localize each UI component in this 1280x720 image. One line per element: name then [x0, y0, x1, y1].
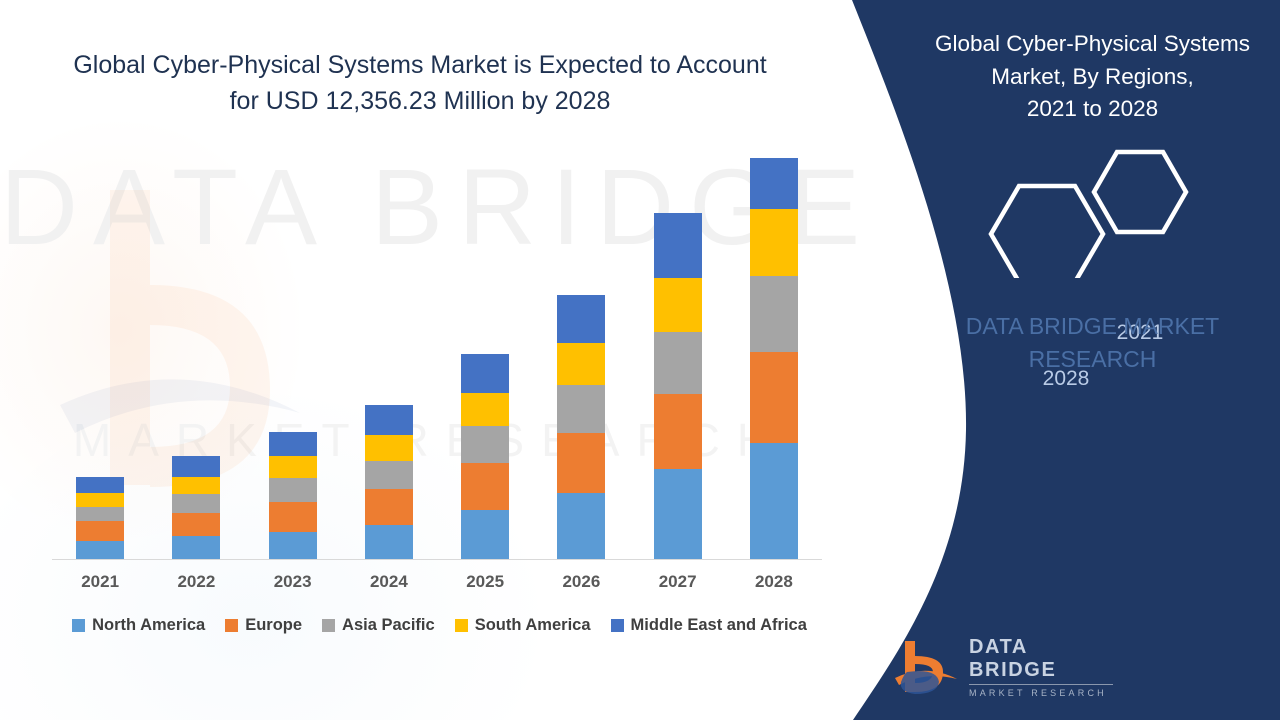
stacked-bar-2024 [365, 405, 413, 560]
logo-text-block: DATA BRIDGE MARKET RESEARCH [969, 636, 1113, 698]
stacked-bar-2023 [269, 432, 317, 560]
panel-title-line-2: Market, By Regions, [905, 61, 1280, 94]
bar-segment [461, 354, 509, 393]
stacked-bar-2027 [654, 213, 702, 560]
bar-segment [557, 343, 605, 385]
stacked-bar-2025 [461, 354, 509, 560]
x-axis-line [52, 559, 822, 560]
bar-segment [557, 385, 605, 432]
bar-segment [76, 477, 124, 493]
hexagon-outlines-icon [965, 148, 1225, 278]
bar-segment [269, 432, 317, 457]
x-tick-label: 2021 [61, 572, 139, 592]
stacked-bar-2026 [557, 295, 605, 560]
bar-segment [461, 393, 509, 426]
x-tick-label: 2025 [446, 572, 524, 592]
legend-item: Middle East and Africa [611, 616, 807, 635]
panel-title-line-1: Global Cyber-Physical Systems [905, 28, 1280, 61]
bar-segment [750, 158, 798, 210]
bar-column [61, 150, 139, 560]
x-tick-label: 2028 [735, 572, 813, 592]
legend-label: North America [92, 616, 205, 635]
chart-legend: North AmericaEuropeAsia PacificSouth Ame… [52, 616, 827, 635]
bar-segment [76, 493, 124, 507]
legend-label: South America [475, 616, 591, 635]
legend-item: North America [72, 616, 205, 635]
bar-segment [76, 521, 124, 540]
logo-sub-text: MARKET RESEARCH [969, 688, 1113, 698]
bar-segment [269, 456, 317, 478]
bar-segment [365, 525, 413, 560]
x-tick-label: 2027 [639, 572, 717, 592]
bar-segment [172, 494, 220, 512]
stacked-bar-2021 [76, 477, 124, 560]
bar-segment [750, 443, 798, 560]
bar-column [735, 150, 813, 560]
bar-column [639, 150, 717, 560]
bar-segment [172, 477, 220, 494]
bar-column [446, 150, 524, 560]
stacked-bar-chart [52, 150, 822, 560]
bar-segment [654, 213, 702, 279]
bar-segment [172, 513, 220, 537]
bar-segment [269, 532, 317, 560]
panel-title-line-3: 2021 to 2028 [905, 93, 1280, 126]
panel-title: Global Cyber-Physical Systems Market, By… [905, 28, 1280, 126]
bar-segment [76, 507, 124, 521]
page-title-line-1: Global Cyber-Physical Systems Market is … [70, 48, 770, 84]
bar-segment [654, 278, 702, 332]
bar-segment [750, 276, 798, 352]
bar-segment [750, 352, 798, 444]
bar-segment [172, 536, 220, 560]
hexagon-2028-shape [991, 186, 1103, 278]
bar-segment [365, 461, 413, 489]
bar-segment [654, 332, 702, 394]
legend-label: Asia Pacific [342, 616, 435, 635]
bar-segment [76, 541, 124, 560]
legend-item: Europe [225, 616, 302, 635]
bar-segment [172, 456, 220, 477]
bar-segment [269, 502, 317, 532]
bar-segment [654, 469, 702, 560]
bar-segment [557, 295, 605, 344]
legend-item: Asia Pacific [322, 616, 435, 635]
legend-swatch-icon [455, 619, 468, 632]
legend-swatch-icon [72, 619, 85, 632]
bar-column [350, 150, 428, 560]
bar-segment [365, 435, 413, 461]
bar-column [542, 150, 620, 560]
legend-label: Middle East and Africa [631, 616, 807, 635]
bar-segment [654, 394, 702, 470]
panel-content: Global Cyber-Physical Systems Market, By… [905, 0, 1280, 720]
data-bridge-b-mark-icon [893, 638, 959, 696]
hexagon-2021-shape [1094, 152, 1186, 232]
bar-column [254, 150, 332, 560]
stacked-bar-2028 [750, 158, 798, 560]
bar-segment [365, 489, 413, 526]
page-title: Global Cyber-Physical Systems Market is … [70, 48, 770, 119]
bar-segment [557, 493, 605, 560]
bar-segment [557, 433, 605, 493]
legend-swatch-icon [322, 619, 335, 632]
bar-segment [461, 510, 509, 560]
x-axis-tick-labels: 20212022202320242025202620272028 [52, 572, 822, 592]
panel-brand-line-1: DATA BRIDGE MARKET [905, 310, 1280, 343]
bar-segment [461, 426, 509, 463]
legend-item: South America [455, 616, 591, 635]
logo-main-text: DATA BRIDGE [969, 636, 1113, 685]
hexagon-badges: 2021 2028 [965, 148, 1225, 278]
bar-column [157, 150, 235, 560]
page-title-line-2: for USD 12,356.23 Million by 2028 [70, 84, 770, 120]
panel-brand-text: DATA BRIDGE MARKET RESEARCH [905, 310, 1280, 377]
legend-swatch-icon [225, 619, 238, 632]
bar-segment [365, 405, 413, 435]
x-tick-label: 2024 [350, 572, 428, 592]
data-bridge-logo: DATA BRIDGE MARKET RESEARCH [893, 636, 1113, 698]
legend-swatch-icon [611, 619, 624, 632]
x-tick-label: 2022 [157, 572, 235, 592]
stacked-bar-2022 [172, 456, 220, 560]
x-tick-label: 2023 [254, 572, 332, 592]
x-tick-label: 2026 [542, 572, 620, 592]
bar-segment [461, 463, 509, 510]
bar-segment [269, 478, 317, 502]
panel-brand-line-2: RESEARCH [905, 343, 1280, 376]
bar-segment [750, 209, 798, 276]
legend-label: Europe [245, 616, 302, 635]
infographic-canvas: DATA BRIDGE MARKET RESEARCH Global Cyber… [0, 0, 1280, 720]
chart-plot-area [52, 150, 822, 560]
